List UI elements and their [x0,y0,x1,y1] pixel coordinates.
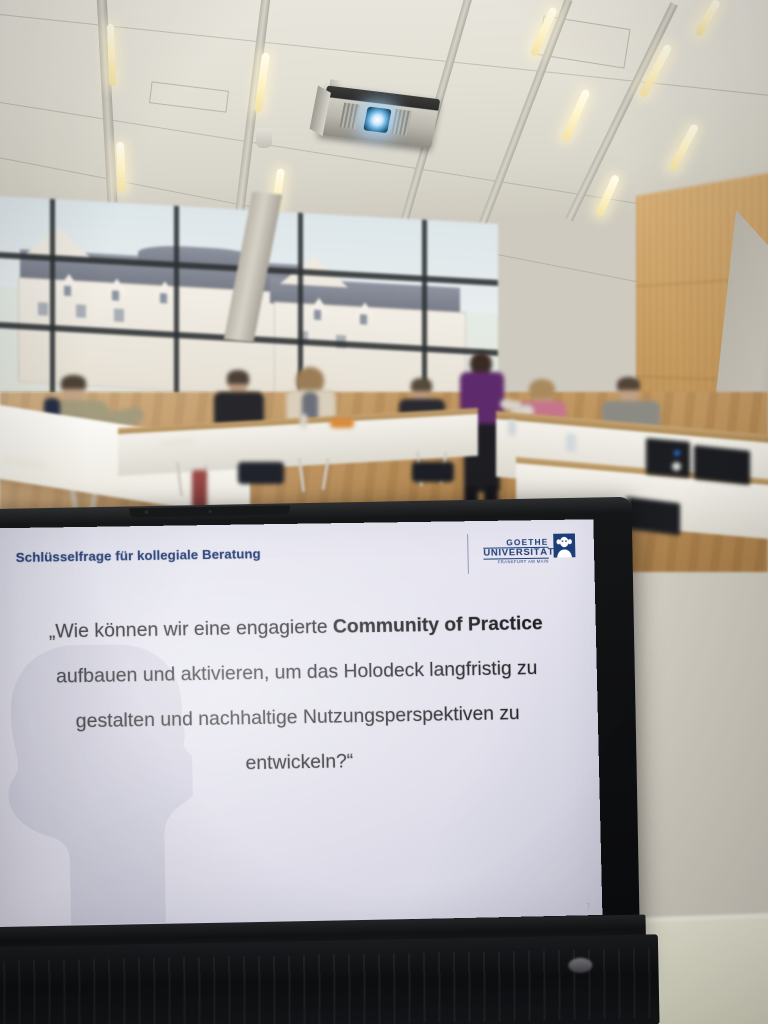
webcam-sensor-icon [145,510,149,514]
ceiling-light [107,24,116,86]
laptop-far [694,445,750,485]
slide-page-number: 7 [586,903,590,910]
ceiling-light [667,123,698,173]
goethe-portrait-icon [552,532,576,558]
meeting-table-center [118,418,478,498]
laptop-far [646,438,690,478]
ceiling-light [694,0,721,37]
laptop-far [626,497,680,536]
ceiling-light [116,142,126,192]
projector-lens [363,107,391,134]
webcam-icon [208,509,213,514]
photo-scene: Schlüsselfrage für kollegiale Beratung G… [0,0,768,1024]
logo-line-frankfurt: FRANKFURT AM MAIN [484,560,549,565]
logo-line-universitaet: UNIVERSITÄT [483,547,549,560]
quote-line-1-plain: „Wie können wir eine engagierte [49,616,333,643]
laptop[interactable]: Schlüsselfrage für kollegiale Beratung G… [0,497,640,979]
ceiling-light [595,174,620,217]
laptop-keyboard[interactable] [0,948,659,1024]
slide-title: Schlüsselfrage für kollegiale Beratung [16,546,261,565]
ceiling-light [560,88,590,142]
slide-quote: „Wie können wir eine engagierte Communit… [4,601,589,791]
ceiling-sensor [256,128,272,148]
quote-line-1-bold: Community of Practice [333,612,543,637]
chair [238,462,284,484]
chair [412,462,454,482]
ceiling-vent [149,81,229,112]
logo-divider [467,534,469,574]
window-mullion [50,199,55,414]
ceiling-rail [234,0,271,222]
laptop-screen[interactable]: Schlüsselfrage für kollegiale Beratung G… [0,519,602,928]
goethe-university-logo: GOETHE UNIVERSITÄT FRANKFURT AM MAIN [483,530,579,573]
